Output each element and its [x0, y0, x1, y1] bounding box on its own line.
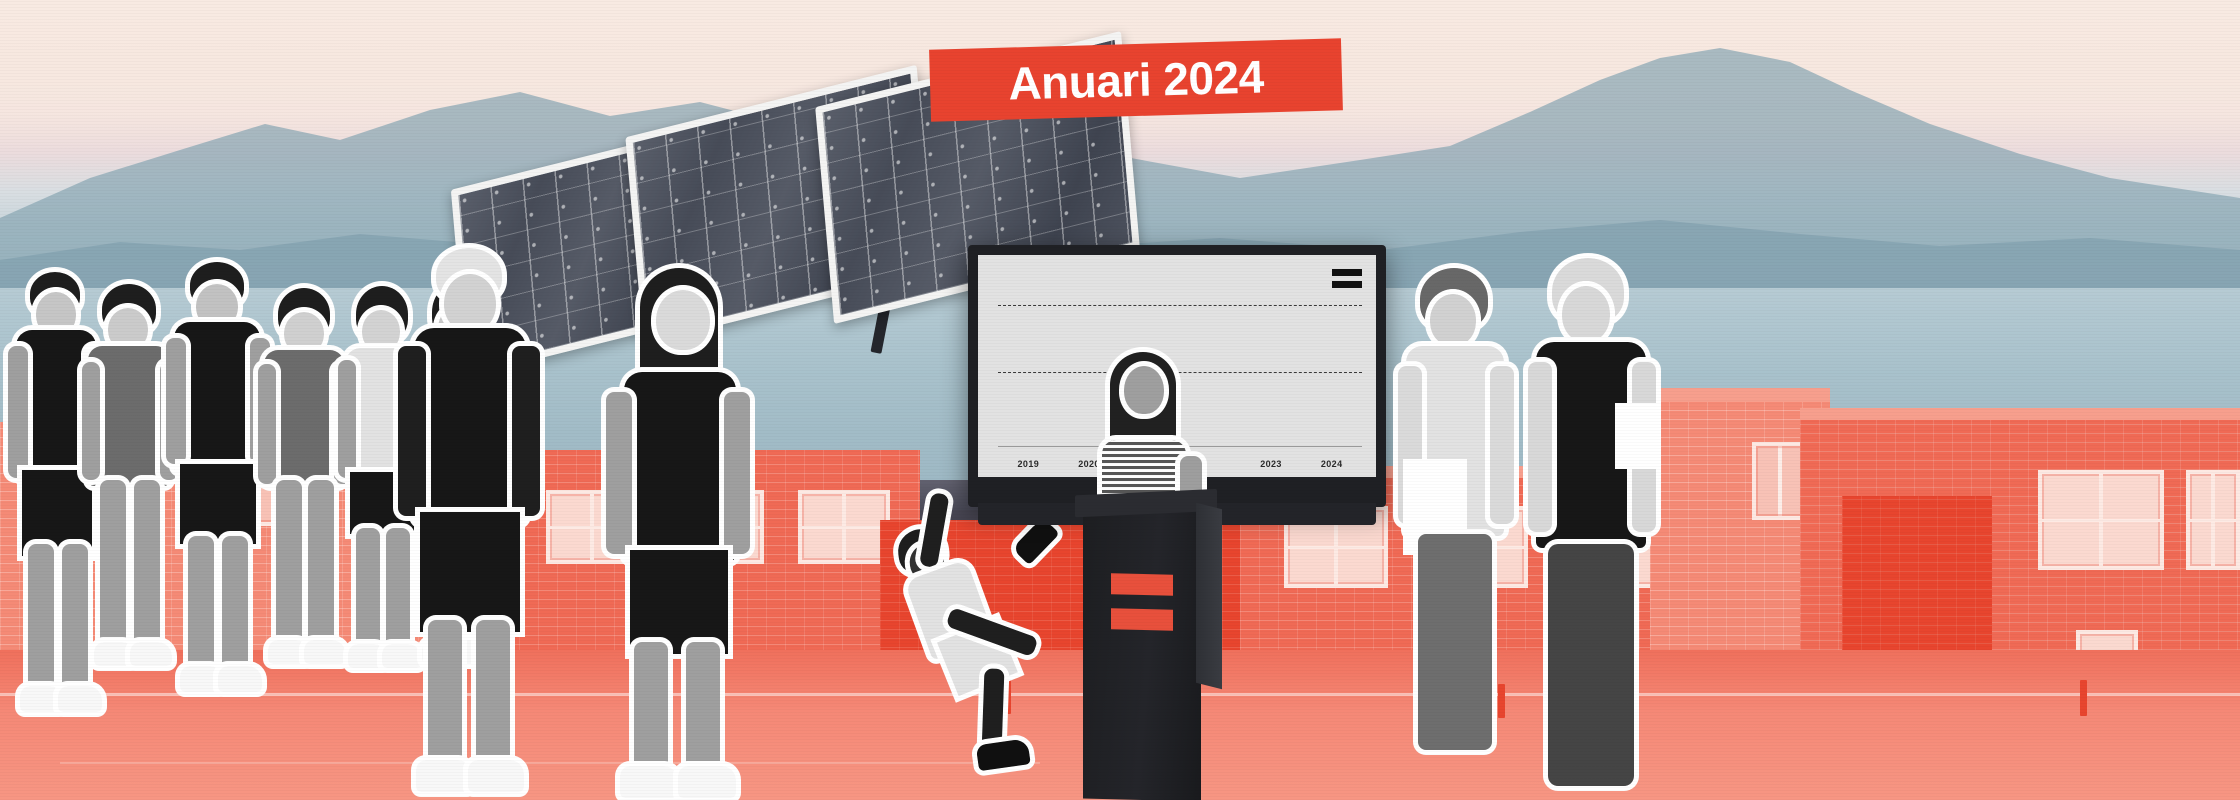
- building-ledge: [1800, 408, 2240, 420]
- figure-arm: [606, 392, 632, 554]
- hero-banner-collage: 2019202020232024: [0, 0, 2240, 800]
- ground-marking: [60, 762, 1040, 764]
- chart-x-tick: 2023: [1241, 459, 1302, 469]
- figure-arm: [82, 362, 100, 480]
- title-banner: Anuari 2024: [929, 38, 1343, 121]
- figure-shoe: [218, 666, 262, 692]
- figure-shoe: [468, 760, 524, 792]
- student-figure: [82, 284, 176, 684]
- figure-torso: [414, 328, 526, 524]
- figure-head: [656, 290, 710, 350]
- building-window: [2038, 470, 2164, 570]
- figure-leg: [222, 536, 248, 676]
- staff-figure: [1528, 258, 1660, 800]
- figure-shoe: [620, 766, 678, 798]
- figure-leg: [356, 528, 380, 654]
- building-ledge: [1650, 388, 1830, 402]
- figure-shorts: [180, 464, 256, 544]
- figure-leg: [100, 480, 126, 652]
- student-figure: [258, 288, 350, 688]
- figure-arm: [1528, 362, 1552, 532]
- figure-head: [1124, 366, 1164, 414]
- building-window: [2186, 470, 2240, 570]
- figure-torso: [174, 322, 260, 472]
- figure-shoe: [58, 686, 102, 712]
- figure-leg: [476, 620, 510, 776]
- figure-head: [1562, 286, 1610, 342]
- student-figure: [166, 262, 266, 702]
- figure-arm: [8, 346, 28, 478]
- figure-leg: [308, 480, 334, 650]
- figure-torso: [88, 346, 170, 486]
- chart-x-tick: 2024: [1301, 459, 1362, 469]
- podium-side-panel: [1196, 503, 1222, 689]
- figure-legs: [1418, 534, 1492, 750]
- chart-x-tick: 2019: [998, 459, 1059, 469]
- podium: [1083, 507, 1201, 800]
- figure-phone: [1620, 408, 1654, 464]
- figure-torso: [624, 372, 736, 562]
- equals-logo-icon: [1111, 573, 1173, 645]
- figure-leg: [28, 544, 54, 696]
- figure-arm: [1490, 366, 1514, 524]
- figure-shoe: [976, 738, 1031, 771]
- figure-legs: [1548, 544, 1634, 786]
- figure-shoe: [416, 760, 472, 792]
- figure-head: [284, 312, 324, 354]
- figure-arm: [338, 360, 356, 478]
- figure-head: [1430, 294, 1476, 346]
- figure-leg: [276, 480, 302, 650]
- page-title: Anuari 2024: [1008, 53, 1264, 106]
- figure-head: [108, 308, 148, 350]
- staff-figure: [1398, 268, 1518, 768]
- building-window: [798, 490, 890, 564]
- figure-shorts: [630, 550, 728, 654]
- figure-leg: [686, 642, 720, 782]
- figure-head: [444, 274, 496, 332]
- figure-shoe: [678, 766, 736, 798]
- figure-arm: [398, 346, 426, 516]
- figure-leg: [428, 620, 462, 776]
- figure-torso: [264, 350, 344, 486]
- figure-leg-front: [982, 668, 1005, 753]
- figure-arm: [258, 364, 276, 484]
- figure-leg: [188, 536, 214, 676]
- figure-arm: [166, 338, 186, 464]
- student-figure-foreground: [392, 248, 540, 800]
- figure-leg: [134, 480, 160, 652]
- chart-gridline: [998, 305, 1362, 306]
- figure-shorts: [420, 512, 520, 632]
- student-figure-foreground: [600, 268, 750, 800]
- figure-arm: [512, 346, 540, 516]
- fence-post: [2080, 680, 2087, 716]
- figure-arm: [724, 392, 750, 554]
- building-recess-right: [1842, 496, 1992, 662]
- figure-leg: [634, 642, 668, 782]
